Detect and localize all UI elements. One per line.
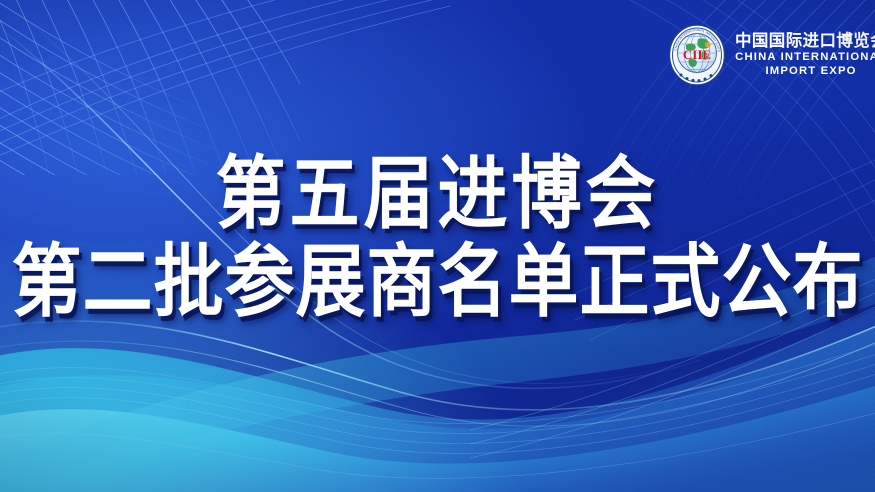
- ciie-globe-emblem-icon: CIIE CHINA INTERNATIONAL IMPORT EXPO: [668, 24, 726, 86]
- headline-line-2: 第二批参展商名单正式公布: [0, 234, 875, 330]
- logo-english-line-1: CHINA INTERNATIONAL: [735, 52, 875, 63]
- ciie-logo-text: 中国国际进口博览会 CHINA INTERNATIONAL IMPORT EXP…: [735, 33, 875, 77]
- headline-block: 第五届进博会 第二批参展商名单正式公布: [0, 148, 875, 318]
- ciie-logo-lockup: CIIE CHINA INTERNATIONAL IMPORT EXPO 中国国…: [668, 24, 875, 86]
- svg-text:CIIE: CIIE: [683, 47, 711, 62]
- poster-banner: CIIE CHINA INTERNATIONAL IMPORT EXPO 中国国…: [0, 0, 875, 492]
- logo-chinese-name: 中国国际进口博览会: [735, 33, 875, 50]
- logo-english-line-2: IMPORT EXPO: [765, 66, 856, 77]
- headline-line-1: 第五届进博会: [0, 148, 875, 239]
